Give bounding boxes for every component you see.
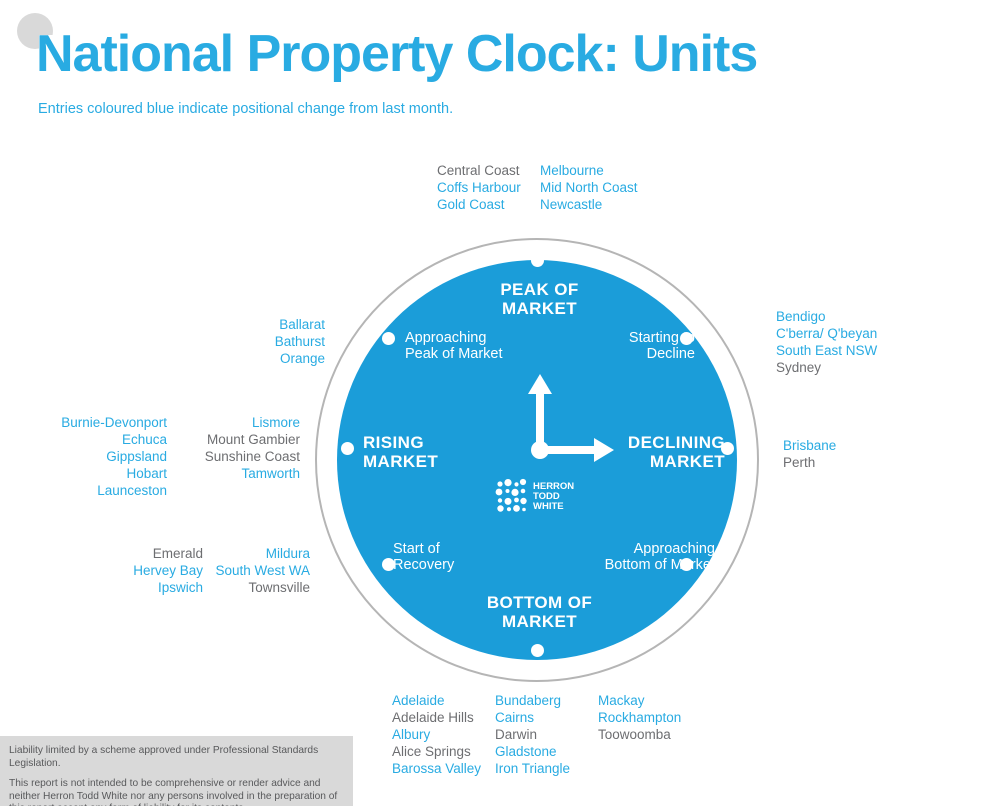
phase-label-rising-market: RISING MARKET (363, 433, 473, 471)
clock-hands-arrows-icon (510, 368, 630, 468)
location-label: Newcastle (540, 196, 638, 213)
location-label: Townsville (208, 579, 310, 596)
location-label: Adelaide (392, 692, 481, 709)
label-group-peak-left: Central CoastCoffs HarbourGold Coast (437, 162, 521, 213)
location-label: Albury (392, 726, 481, 743)
location-label: South West WA (208, 562, 310, 579)
location-label: Alice Springs (392, 743, 481, 760)
phase-label-bottom-of-market: BOTTOM OF MARKET (467, 593, 612, 631)
label-group-rising-market-inner: LismoreMount GambierSunshine CoastTamwor… (175, 414, 300, 482)
property-clock-graphic: PEAK OF MARKET BOTTOM OF MARKET RISING M… (315, 238, 765, 688)
label-group-start-of-recovery-outer: EmeraldHervey BayIpswich (60, 545, 203, 596)
location-label: Toowoomba (598, 726, 681, 743)
clock-dot-peak-of-market (531, 254, 544, 267)
location-label: Sunshine Coast (175, 448, 300, 465)
label-group-peak-right: MelbourneMid North CoastNewcastle (540, 162, 638, 213)
location-label: Barossa Valley (392, 760, 481, 777)
location-label: Bendigo (776, 308, 877, 325)
phase-label-starting-to-decline: Starting to Decline (565, 330, 695, 362)
location-label: Mid North Coast (540, 179, 638, 196)
location-label: Orange (200, 350, 325, 367)
label-group-start-of-recovery-inner: MilduraSouth West WATownsville (208, 545, 310, 596)
label-group-rising-market-outer: Burnie-DevonportEchucaGippslandHobartLau… (30, 414, 167, 499)
location-label: Hervey Bay (60, 562, 203, 579)
page-title: National Property Clock: Units (36, 28, 757, 80)
disclaimer-line-2: This report is not intended to be compre… (9, 778, 344, 806)
phase-label-start-of-recovery: Start of Recovery (393, 541, 523, 573)
clock-dot-approaching-peak (382, 332, 395, 345)
location-label: Tamworth (175, 465, 300, 482)
disclaimer-line-1: Liability limited by a scheme approved u… (9, 745, 344, 770)
location-label: Mildura (208, 545, 310, 562)
location-label: C'berra/ Q'beyan (776, 325, 877, 342)
location-label: Hobart (30, 465, 167, 482)
clock-dot-bottom-of-market (531, 644, 544, 657)
location-label: Coffs Harbour (437, 179, 521, 196)
location-label: Adelaide Hills (392, 709, 481, 726)
phase-label-approaching-bottom-of-market: Approaching Bottom of Market (545, 541, 715, 573)
label-group-starting-to-decline: BendigoC'berra/ Q'beyanSouth East NSWSyd… (776, 308, 877, 376)
location-label: Brisbane (783, 437, 836, 454)
location-label: Ballarat (200, 316, 325, 333)
location-label: Central Coast (437, 162, 521, 179)
location-label: Gold Coast (437, 196, 521, 213)
location-label: Melbourne (540, 162, 638, 179)
location-label: Sydney (776, 359, 877, 376)
location-label: Emerald (60, 545, 203, 562)
label-group-bottom-of-market-1: AdelaideAdelaide HillsAlburyAlice Spring… (392, 692, 481, 777)
location-label: Perth (783, 454, 836, 471)
location-label: Launceston (30, 482, 167, 499)
location-label: Iron Triangle (495, 760, 570, 777)
location-label: Lismore (175, 414, 300, 431)
location-label: Darwin (495, 726, 570, 743)
label-group-declining-market: BrisbanePerth (783, 437, 836, 471)
location-label: Mackay (598, 692, 681, 709)
location-label: Gippsland (30, 448, 167, 465)
label-group-approaching-peak: BallaratBathurstOrange (200, 316, 325, 367)
location-label: South East NSW (776, 342, 877, 359)
page-subtitle: Entries coloured blue indicate positiona… (38, 101, 453, 117)
location-label: Echuca (30, 431, 167, 448)
label-group-bottom-of-market-3: MackayRockhamptonToowoomba (598, 692, 681, 743)
herron-todd-white-logo-icon: HERRON TODD WHITE (495, 478, 595, 514)
location-label: Burnie-Devonport (30, 414, 167, 431)
location-label: Ipswich (60, 579, 203, 596)
phase-label-approaching-peak-of-market: Approaching Peak of Market (405, 330, 565, 362)
label-group-bottom-of-market-2: BundabergCairnsDarwinGladstoneIron Trian… (495, 692, 570, 777)
disclaimer-footer: Liability limited by a scheme approved u… (0, 736, 353, 806)
location-label: Bathurst (200, 333, 325, 350)
location-label: Cairns (495, 709, 570, 726)
location-label: Gladstone (495, 743, 570, 760)
location-label: Rockhampton (598, 709, 681, 726)
property-clock-page: National Property Clock: Units Entries c… (0, 0, 1005, 806)
location-label: Mount Gambier (175, 431, 300, 448)
clock-dot-rising-market (341, 442, 354, 455)
svg-text:WHITE: WHITE (533, 501, 564, 512)
location-label: Bundaberg (495, 692, 570, 709)
phase-label-peak-of-market: PEAK OF MARKET (467, 280, 612, 318)
